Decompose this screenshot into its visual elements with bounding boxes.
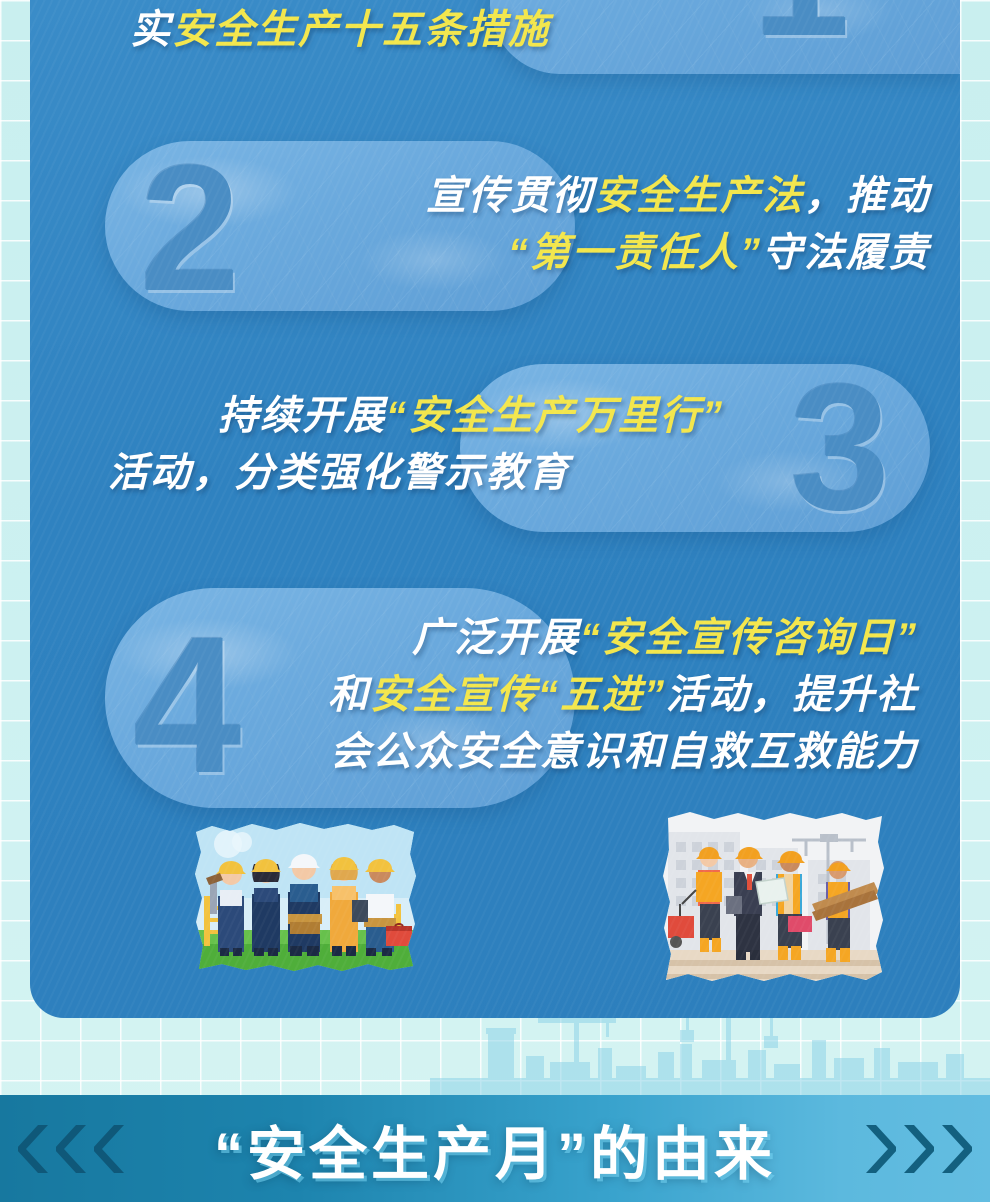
measure-4-white-b: 和 <box>328 673 370 717</box>
measure-4-white-c: 活动，提升社 <box>666 673 918 717</box>
measure-text-2: 宣传贯彻安全生产法，推动 “第一责任人”守法履责 <box>130 168 930 282</box>
chevron-left-icon <box>56 1123 90 1175</box>
measure-1-white: 实 <box>130 8 172 52</box>
measure-4-highlight-2: 安全宣传“五进” <box>370 673 666 717</box>
measure-2-highlight-2: “第一责任人” <box>508 231 762 275</box>
measure-1-highlight: 安全生产十五条措施 <box>172 8 550 52</box>
poster-root: 1 实安全生产十五条措施 2 宣传贯彻安全生产法，推动 “第一责任人”守法履责 … <box>0 0 990 1202</box>
chevron-right-icon <box>862 1123 896 1175</box>
measure-2-white-c: 守法履责 <box>762 231 930 275</box>
measure-2-highlight-1: 安全生产法 <box>594 174 804 218</box>
chevron-left-icon <box>18 1123 52 1175</box>
measure-text-1: 实安全生产十五条措施 <box>130 2 960 59</box>
measure-4-highlight-1: “安全宣传咨询日” <box>580 616 918 660</box>
left-chevrons <box>18 1123 128 1175</box>
measure-3-highlight: “安全生产万里行” <box>386 394 724 438</box>
measure-4-white-a: 广泛开展 <box>412 616 580 660</box>
right-chevrons <box>862 1123 972 1175</box>
measure-text-3: 持续开展“安全生产万里行” 活动，分类强化警示教育 <box>108 388 808 502</box>
chevron-left-icon <box>94 1123 128 1175</box>
illustration-construction-workers-team <box>190 818 422 976</box>
measure-3-white-a: 持续开展 <box>108 394 386 438</box>
chevron-right-icon <box>938 1123 972 1175</box>
banner-title: “安全生产月”的由来 <box>214 1107 776 1191</box>
measure-text-4: 广泛开展“安全宣传咨询日” 和安全宣传“五进”活动，提升社 会公众安全意识和自救… <box>248 610 918 780</box>
illustration-construction-site-workers <box>660 808 888 990</box>
measure-number-4: 4 <box>133 608 241 803</box>
measure-2-white-b: ，推动 <box>804 174 930 218</box>
measure-2-white-a: 宣传贯彻 <box>426 174 594 218</box>
main-blue-panel: 1 实安全生产十五条措施 2 宣传贯彻安全生产法，推动 “第一责任人”守法履责 … <box>30 0 960 1018</box>
measure-3-white-b: 活动，分类强化警示教育 <box>108 451 570 495</box>
measure-4-white-d: 会公众安全意识和自救互救能力 <box>330 730 918 774</box>
bottom-banner: “安全生产月”的由来 <box>0 1095 990 1202</box>
chevron-right-icon <box>900 1123 934 1175</box>
